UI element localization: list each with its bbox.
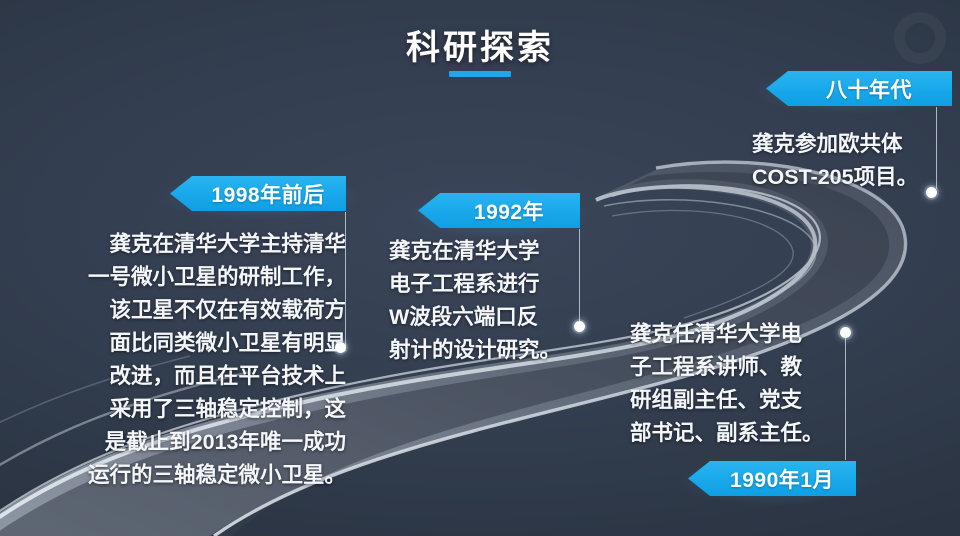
timeline-text-1992: 龚克在清华大学 电子工程系进行 W波段六端口反 射计的设计研究。: [389, 235, 579, 367]
connector-line-1990: [845, 338, 846, 460]
timeline-text-1998: 龚克在清华大学主持清华 一号微小卫星的研制工作， 该卫星不仅在有效载荷方 面比同…: [36, 228, 346, 492]
connector-line-1998: [345, 212, 346, 346]
node-dot-1990: [840, 327, 851, 338]
page-title: 科研探索: [0, 20, 960, 69]
connector-line-eighties: [936, 107, 937, 189]
timeline-badge-eighties[interactable]: 八十年代: [766, 71, 952, 106]
timeline-badge-1992[interactable]: 1992年: [418, 193, 580, 228]
node-dot-1992: [574, 321, 585, 332]
title-underline: [449, 71, 511, 77]
slide-canvas: 科研探索 八十年代 龚克参加欧共体 COST-205项目。 龚克任清华大学电 子…: [0, 0, 960, 536]
timeline-badge-1998[interactable]: 1998年前后: [170, 176, 346, 211]
timeline-badge-1990[interactable]: 1990年1月: [688, 461, 856, 496]
node-dot-1998: [335, 342, 346, 353]
node-dot-eighties: [926, 187, 937, 198]
connector-line-1992: [579, 229, 580, 323]
timeline-text-1990: 龚克任清华大学电 子工程系讲师、教 研组副主任、党支 部书记、副系主任。: [630, 318, 860, 450]
timeline-text-eighties: 龚克参加欧共体 COST-205项目。: [752, 128, 960, 194]
